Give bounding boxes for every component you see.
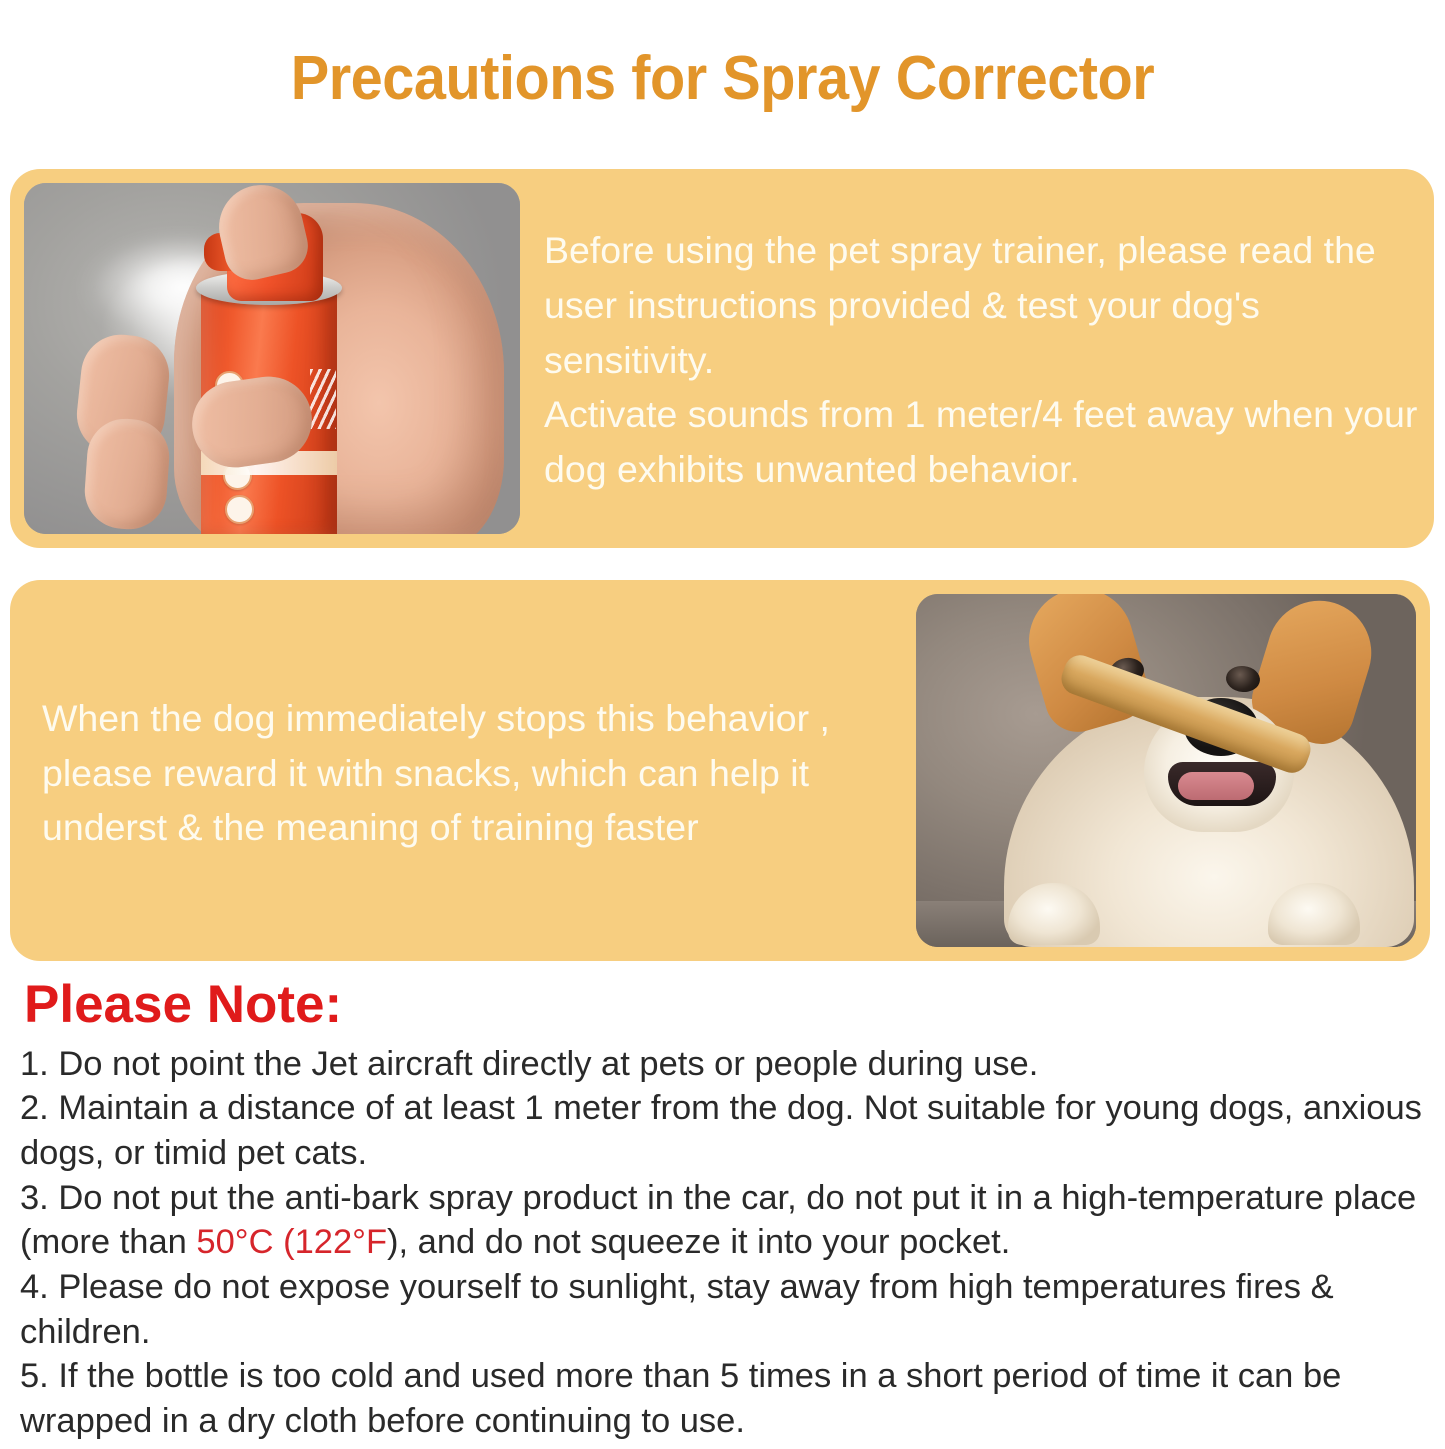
temperature-warning-highlight: 50°C (122°F bbox=[196, 1223, 387, 1261]
dog-tongue bbox=[1178, 772, 1254, 800]
finger-ring bbox=[82, 416, 171, 531]
panel-one-text: Before using the pet spray trainer, plea… bbox=[544, 223, 1420, 497]
note-item-3-after: ), and do not squeeze it into your pocke… bbox=[387, 1223, 1010, 1261]
note-item-4: 4. Please do not expose yourself to sunl… bbox=[20, 1265, 1430, 1354]
precaution-panel-usage: Before using the pet spray trainer, plea… bbox=[10, 169, 1434, 548]
panel-two-text: When the dog immediately stops this beha… bbox=[42, 691, 916, 855]
note-item-2: 2. Maintain a distance of at least 1 met… bbox=[20, 1086, 1430, 1175]
corgi-dog-with-treat-photo bbox=[916, 594, 1416, 947]
note-item-3: 3. Do not put the anti-bark spray produc… bbox=[20, 1176, 1430, 1265]
page-title: Precautions for Spray Corrector bbox=[51, 42, 1395, 110]
can-stripe-detail bbox=[310, 369, 336, 429]
precaution-panel-reward: When the dog immediately stops this beha… bbox=[10, 580, 1430, 961]
note-item-5: 5. If the bottle is too cold and used mo… bbox=[20, 1354, 1430, 1443]
note-item-1: 1. Do not point the Jet aircraft directl… bbox=[20, 1042, 1430, 1087]
hand-holding-spray-can-photo bbox=[24, 183, 520, 534]
please-note-heading: Please Note: bbox=[24, 978, 342, 1031]
can-warning-icon-4 bbox=[225, 495, 254, 524]
please-note-list: 1. Do not point the Jet aircraft directl… bbox=[20, 1042, 1430, 1444]
